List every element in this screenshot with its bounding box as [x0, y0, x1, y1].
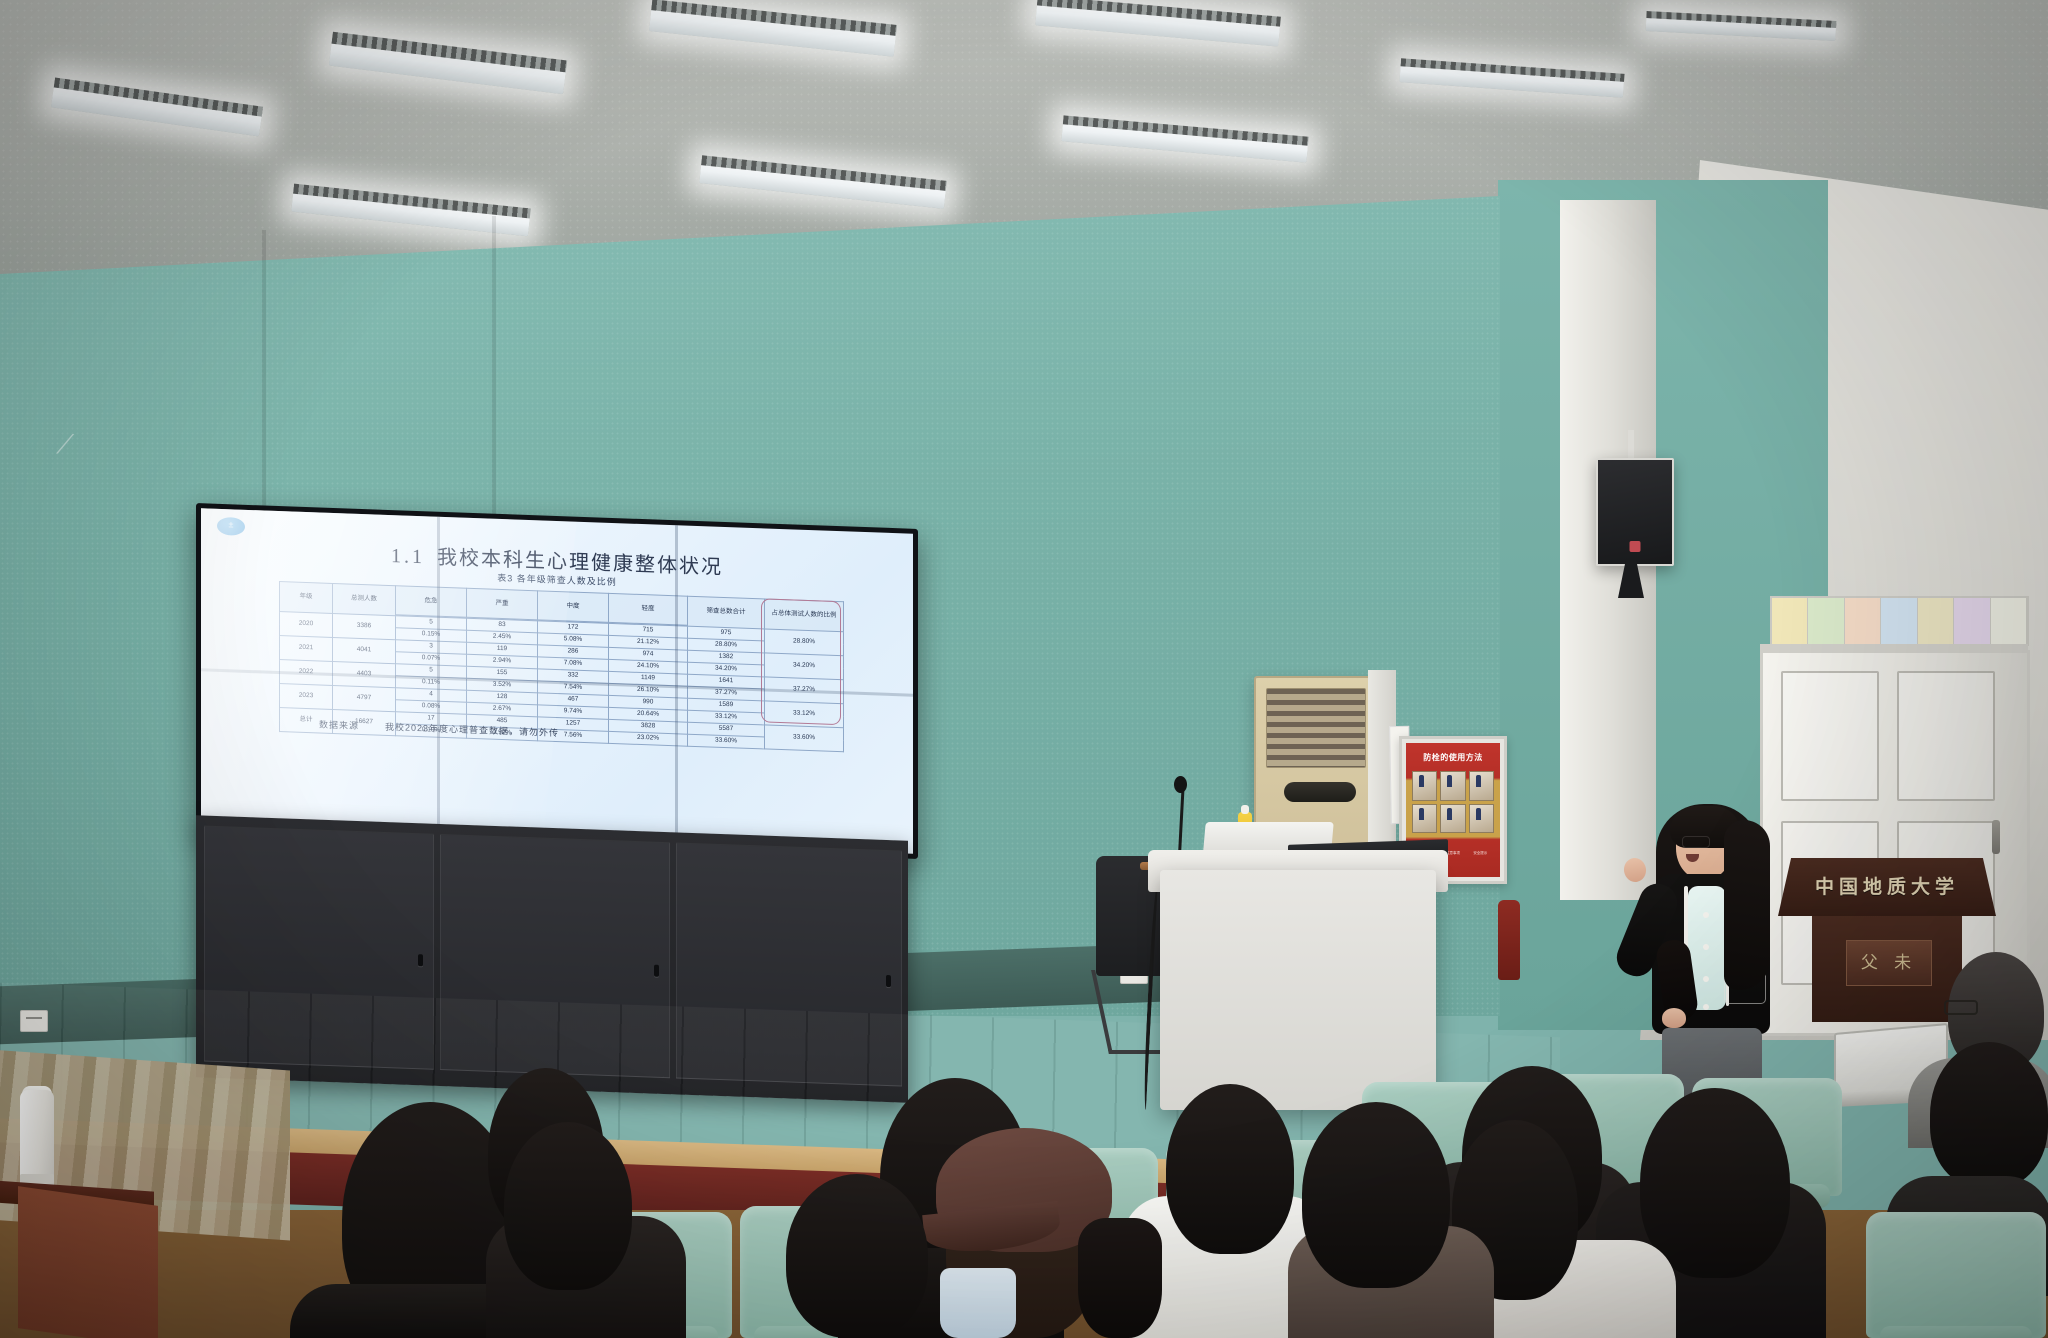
poster-step-4 — [1412, 804, 1437, 834]
door-panel-upper-left — [1781, 671, 1879, 801]
ac-air-grille — [1266, 688, 1366, 768]
window-pane-6 — [1954, 598, 1990, 644]
col-ratio: 占总体测试人数的比例 — [765, 599, 844, 632]
window-pane-7 — [1991, 598, 2027, 644]
presenter-button-1 — [1703, 912, 1709, 918]
cell-percent: 33.60% — [688, 734, 765, 749]
presenter-button-2 — [1703, 944, 1709, 950]
audience-head-right-2 — [1930, 1042, 2048, 1188]
poster-step-3 — [1469, 771, 1494, 801]
wall-speaker — [1596, 458, 1674, 566]
cell-ratio: 33.60% — [765, 725, 844, 752]
col-critical: 危急 — [396, 586, 467, 618]
speaker-logo-badge — [1630, 541, 1641, 552]
window-pane-5 — [1918, 598, 1954, 644]
cell-grade: 2021 — [280, 636, 333, 662]
standing-presenter — [1600, 790, 1800, 1120]
podium-emblem-text: 父 未 — [1847, 941, 1931, 985]
lecture-hall-photo: ⟋ ± 1.1我校本科生心理健康整体状况 表3 各年级筛查人数及比例 年级 总测… — [0, 0, 2048, 1338]
presenter-button-4 — [1703, 1004, 1709, 1010]
window-pane-3 — [1845, 598, 1881, 644]
audience-glasses-icon — [1944, 1000, 1978, 1015]
cell-ratio: 28.80% — [765, 629, 844, 656]
microphone-icon[interactable] — [1174, 776, 1187, 793]
podium-emblem: 父 未 — [1846, 940, 1932, 986]
wall-seam-2 — [492, 216, 496, 516]
slide-title-number: 1.1 — [391, 545, 425, 568]
poster-footer-mid: 注意事项 — [1446, 851, 1460, 856]
presenter-lower-hand — [1662, 1008, 1686, 1028]
col-total: 总测人数 — [333, 583, 396, 615]
poster-step-2 — [1440, 771, 1465, 801]
window-pane-4 — [1881, 598, 1917, 644]
cell-grade: 2020 — [280, 612, 333, 638]
window-pane-1 — [1772, 598, 1808, 644]
presenter-glasses-icon — [1682, 836, 1710, 848]
col-screened-total: 筛查总数合计 — [688, 596, 765, 629]
slide-badge-label: ± — [217, 519, 245, 530]
audience-head-e — [1166, 1084, 1294, 1254]
audience-head-j — [504, 1122, 632, 1290]
cell-total: 3386 — [333, 613, 396, 639]
cell-ratio: 33.12% — [765, 701, 844, 728]
cabinet-lock-1[interactable] — [418, 954, 423, 966]
fire-extinguisher[interactable] — [1498, 900, 1520, 980]
cell-total: 4797 — [333, 685, 396, 711]
left-side-table-front — [18, 1186, 158, 1338]
cell-ratio: 34.20% — [765, 653, 844, 680]
university-sign: 中国地质大学 — [1778, 858, 1996, 916]
poster-step-1 — [1412, 771, 1437, 801]
poster-step-6 — [1469, 804, 1494, 834]
poster-step-grid — [1412, 771, 1494, 833]
audience-head-f — [1302, 1102, 1450, 1288]
ac-control-panel[interactable] — [1284, 782, 1356, 802]
col-moderate: 中度 — [538, 591, 609, 623]
presenter-hair-side — [1724, 820, 1770, 990]
presenter-raised-hand — [1622, 856, 1648, 883]
audience-ponytail — [1078, 1218, 1162, 1338]
poster-footer-right: 安全提示 — [1473, 851, 1487, 856]
cabinet-lock-2[interactable] — [654, 965, 659, 977]
col-severe: 严重 — [467, 588, 538, 620]
cabinet-lock-3[interactable] — [886, 975, 891, 987]
university-sign-text: 中国地质大学 — [1778, 872, 1996, 899]
door-handle[interactable] — [1992, 820, 2000, 854]
face-mask — [940, 1268, 1016, 1338]
col-grade: 年级 — [280, 582, 333, 614]
video-wall-screen: ± 1.1我校本科生心理健康整体状况 表3 各年级筛查人数及比例 年级 总测人数… — [201, 508, 913, 853]
cell-grade: 2023 — [280, 684, 333, 710]
audience-head-k — [786, 1174, 928, 1338]
transom-window — [1770, 596, 2029, 646]
door-panel-upper-right — [1897, 671, 1995, 801]
window-pane-2 — [1808, 598, 1844, 644]
cell-total: 4041 — [333, 637, 396, 663]
poster-title: 防栓的使用方法 — [1406, 752, 1500, 763]
wall-scuff-mark: ⟋ — [56, 430, 74, 461]
presenter-button-3 — [1703, 976, 1709, 982]
slide-source-label: 数据来源 — [319, 719, 359, 730]
teaching-lectern[interactable] — [1160, 870, 1436, 1110]
audience-head-b — [1640, 1088, 1790, 1278]
poster-step-5 — [1440, 804, 1465, 834]
seat-row-2-c[interactable] — [1866, 1212, 2046, 1338]
video-wall-display[interactable]: ± 1.1我校本科生心理健康整体状况 表3 各年级筛查人数及比例 年级 总测人数… — [196, 503, 918, 859]
